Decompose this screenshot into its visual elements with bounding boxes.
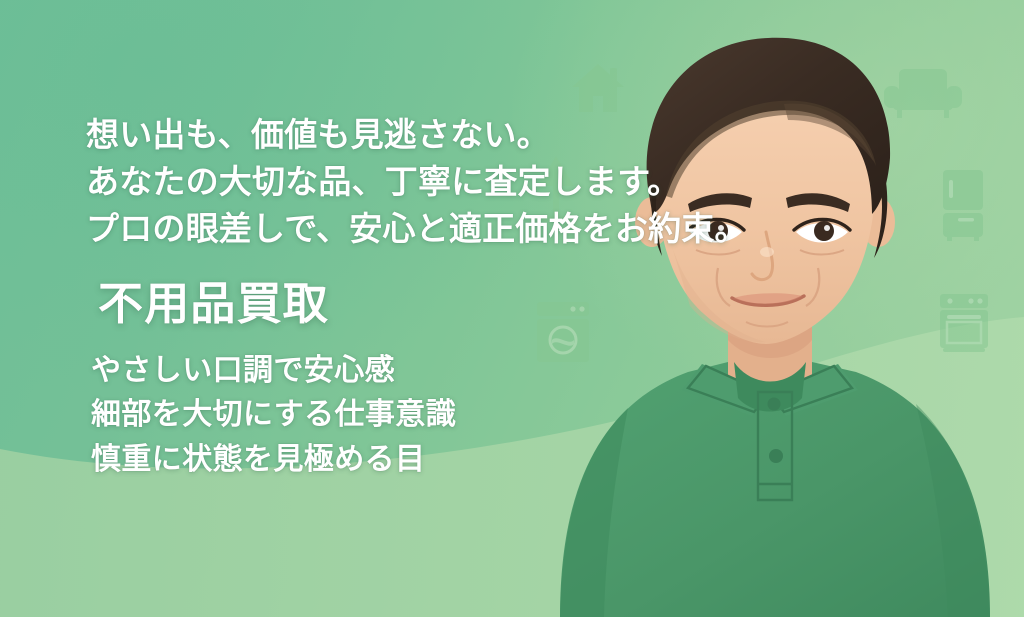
lede-line-1: 想い出も、価値も見逃さない。: [86, 112, 706, 159]
lede-line-2: あなたの大切な品、丁寧に査定します。: [86, 159, 706, 206]
headline: 不用品買取: [98, 279, 706, 329]
house-icon: [570, 62, 626, 114]
lede-line-3: プロの眼差しで、安心と適正価格をお約束。: [86, 206, 706, 253]
points-list: やさしい口調で安心感 細部を大切にする仕事意識 慎重に状態を見極める目: [91, 349, 706, 482]
oven-icon: [938, 292, 990, 354]
refrigerator-icon: [941, 168, 985, 242]
copy-block: 想い出も、価値も見逃さない。 あなたの大切な品、丁寧に査定します。 プロの眼差し…: [86, 112, 706, 482]
point-line-2: 細部を大切にする仕事意識: [91, 393, 706, 437]
point-line-3: 慎重に状態を見極める目: [91, 438, 706, 482]
point-line-1: やさしい口調で安心感: [91, 349, 706, 393]
lede-text: 想い出も、価値も見逃さない。 あなたの大切な品、丁寧に査定します。 プロの眼差し…: [86, 112, 706, 253]
sofa-icon: [883, 68, 963, 124]
promo-banner: 想い出も、価値も見逃さない。 あなたの大切な品、丁寧に査定します。 プロの眼差し…: [0, 0, 1024, 617]
